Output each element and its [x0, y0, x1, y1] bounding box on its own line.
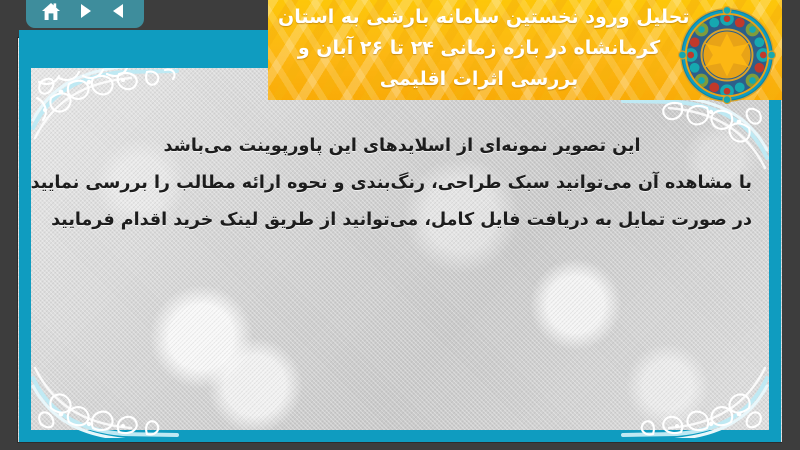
slide-body: این تصویر نمونه‌ای از اسلایدهای این پاور…	[52, 128, 752, 239]
title-line-1: تحلیل ورود نخستین سامانه بارشی به استان	[278, 2, 690, 33]
home-icon	[40, 1, 62, 22]
slide-viewer: تحلیل ورود نخستین سامانه بارشی به استان …	[0, 0, 800, 450]
triangle-left-icon	[109, 1, 129, 21]
home-button[interactable]	[38, 0, 64, 23]
title-line-3: بررسی اثرات اقلیمی	[278, 64, 680, 95]
persian-medallion-icon	[678, 6, 776, 104]
next-slide-button[interactable]	[72, 0, 98, 23]
previous-slide-button[interactable]	[106, 0, 132, 23]
body-line-2: با مشاهده آن می‌توانید سبک طراحی، رنگ‌بن…	[52, 165, 752, 202]
triangle-right-icon	[75, 1, 95, 21]
navigation-toolbar	[26, 0, 144, 28]
title-line-2: کرمانشاه در بازه زمانی ۲۴ تا ۲۶ آبان و	[278, 33, 680, 64]
body-line-3: در صورت تمایل به دریافت فایل کامل، می‌تو…	[52, 202, 752, 239]
viewer-right-gutter	[782, 0, 800, 450]
body-line-1: این تصویر نمونه‌ای از اسلایدهای این پاور…	[52, 128, 752, 165]
frame-top-ribbon	[19, 30, 309, 68]
